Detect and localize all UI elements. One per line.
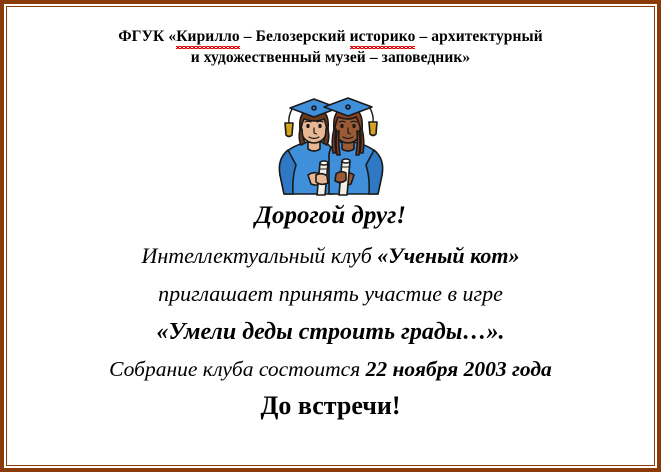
- organization-header-line-1: ФГУК «Кирилло – Белозерский историко – а…: [8, 26, 653, 47]
- club-name: «Ученый кот»: [377, 243, 519, 268]
- clipart-container: [8, 79, 653, 197]
- misspelled-word-kirillo: Кирилло: [176, 26, 240, 47]
- invitation-body: Дорогой друг! Интеллектуальный клуб «Уче…: [8, 203, 653, 420]
- meeting-date: 22 ноября 2003 года: [366, 357, 552, 381]
- page-content: ФГУК «Кирилло – Белозерский историко – а…: [8, 8, 653, 464]
- misspelled-word-istoriko: историко: [350, 26, 416, 47]
- organization-header-line-2: и художественный музей – заповедник»: [8, 47, 653, 68]
- greeting-line: Дорогой друг!: [8, 203, 653, 228]
- invitation-line: приглашает принять участие в игре: [8, 283, 653, 305]
- club-line-prefix: Интеллектуальный клуб: [141, 243, 377, 268]
- meeting-line: Собрание клуба состоится 22 ноября 2003 …: [8, 359, 653, 381]
- header-prefix: ФГУК «: [118, 28, 176, 45]
- header-suffix: – архитектурный: [415, 28, 542, 45]
- game-title-line: «Умели деды строить грады…».: [8, 320, 653, 344]
- club-line: Интеллектуальный клуб «Ученый кот»: [8, 245, 653, 267]
- two-graduates-icon: [246, 79, 416, 197]
- organization-header: ФГУК «Кирилло – Белозерский историко – а…: [8, 8, 653, 69]
- invitation-page: ФГУК «Кирилло – Белозерский историко – а…: [0, 0, 661, 472]
- meeting-line-prefix: Собрание клуба состоится: [109, 357, 365, 381]
- farewell-line: До встречи!: [8, 393, 653, 419]
- header-middle: – Белозерский: [240, 28, 350, 45]
